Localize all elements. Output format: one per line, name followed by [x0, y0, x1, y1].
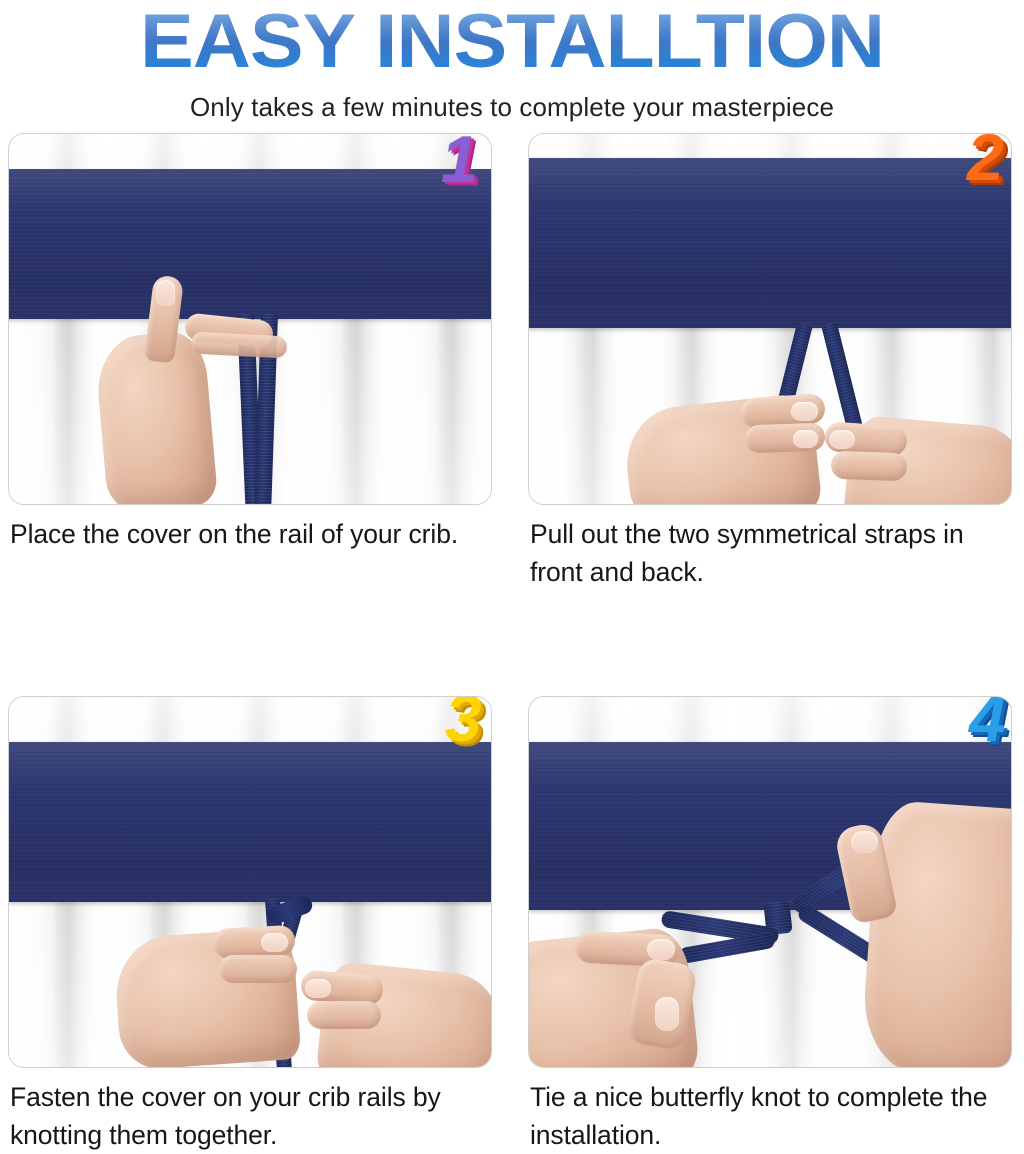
rail-cover	[528, 158, 1012, 328]
step-3-photo: 3	[8, 696, 492, 1068]
step-4-photo: 4	[528, 696, 1012, 1068]
step-1-caption: Place the cover on the rail of your crib…	[10, 515, 490, 553]
rail-cover	[8, 742, 492, 902]
step-4-caption: Tie a nice butterfly knot to complete th…	[530, 1078, 1010, 1154]
right-thumb	[831, 451, 908, 482]
left-middle-nail	[793, 430, 818, 448]
left-index-nail	[791, 402, 818, 421]
right-thumb-nail	[851, 831, 878, 853]
step-2: 2 Pull out the two symmetrical straps in…	[528, 133, 1024, 591]
step-number-1: 1	[441, 133, 478, 192]
right-index-nail	[829, 430, 855, 449]
step-1: 1 Place the cover on the rail of your cr…	[8, 133, 512, 591]
left-middle-finger	[219, 955, 297, 983]
step-number-2: 2	[967, 133, 1004, 190]
step-2-photo: 2	[528, 133, 1012, 505]
step-1-photo: 1	[8, 133, 492, 505]
right-index-nail	[305, 979, 331, 998]
step-3-caption: Fasten the cover on your crib rails by k…	[10, 1078, 490, 1154]
page-title: EASY INSTALLTION	[0, 2, 1024, 82]
step-4: 4 Tie a nice butterfly knot to complete …	[528, 696, 1024, 1154]
header: EASY INSTALLTION Only takes a few minute…	[0, 0, 1024, 123]
left-index-nail	[647, 939, 675, 960]
left-thumb-nail	[655, 997, 679, 1031]
right-thumb	[307, 1001, 381, 1029]
left-index-nail	[261, 933, 288, 952]
page-subtitle: Only takes a few minutes to complete you…	[0, 92, 1024, 123]
step-2-caption: Pull out the two symmetrical straps in f…	[530, 515, 1010, 591]
step-3: 3 Fasten the cover on your crib rails by…	[8, 696, 512, 1154]
rail-cover	[8, 169, 492, 319]
step-number-4: 4	[969, 696, 1006, 751]
steps-grid: 1 Place the cover on the rail of your cr…	[0, 133, 1024, 1154]
step-number-3: 3	[445, 696, 482, 751]
thumb-nail	[156, 280, 175, 306]
